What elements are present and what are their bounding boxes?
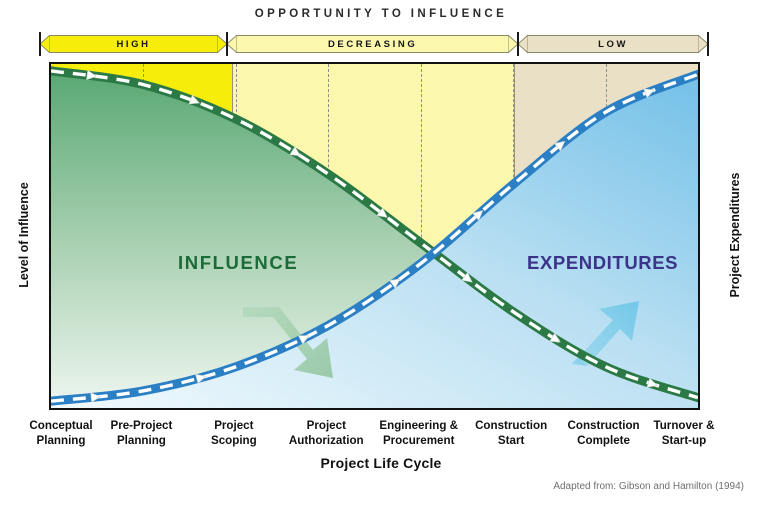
chart-curves-svg — [51, 64, 698, 408]
band-label: LOW — [598, 39, 628, 50]
figure-root: OPPORTUNITY TO INFLUENCE HIGH DECREASING — [0, 0, 762, 505]
band-divider-cap — [707, 32, 709, 56]
band-arrow-left-icon — [40, 35, 50, 53]
band-low: LOW — [518, 31, 708, 57]
x-tick-label-2: ProjectScoping — [182, 418, 286, 448]
x-tick-label-3: ProjectAuthorization — [274, 418, 378, 448]
x-tick-label-4: Engineering &Procurement — [367, 418, 471, 448]
band-arrow-left-icon — [227, 35, 237, 53]
band-label: DECREASING — [328, 39, 417, 50]
x-axis-title: Project Life Cycle — [0, 455, 762, 471]
x-tick-label-5: ConstructionStart — [459, 418, 563, 448]
band-divider-cap — [517, 32, 519, 56]
band-arrow-left-icon — [518, 35, 528, 53]
y-axis-left-label: Level of Influence — [17, 165, 31, 305]
opportunity-to-influence-title: OPPORTUNITY TO INFLUENCE — [0, 8, 762, 20]
band-divider-cap — [39, 32, 41, 56]
influence-caption: INFLUENCE — [178, 252, 298, 274]
source-credit: Adapted from: Gibson and Hamilton (1994) — [553, 481, 744, 492]
chart-plot-area — [49, 62, 700, 410]
band-high: HIGH — [40, 31, 227, 57]
expenditures-caption: EXPENDITURES — [527, 252, 678, 274]
x-tick-label-7: Turnover &Start-up — [632, 418, 736, 448]
band-label: HIGH — [116, 39, 150, 50]
influence-band-row: HIGH DECREASING LOW — [40, 31, 708, 57]
y-axis-right-label: Project Expenditures — [728, 155, 742, 315]
x-tick-label-1: Pre-ProjectPlanning — [89, 418, 193, 448]
band-decreasing: DECREASING — [227, 31, 518, 57]
band-divider-cap — [226, 32, 228, 56]
x-axis-tick-labels: ConceptualPlanningPre-ProjectPlanningPro… — [0, 418, 762, 456]
